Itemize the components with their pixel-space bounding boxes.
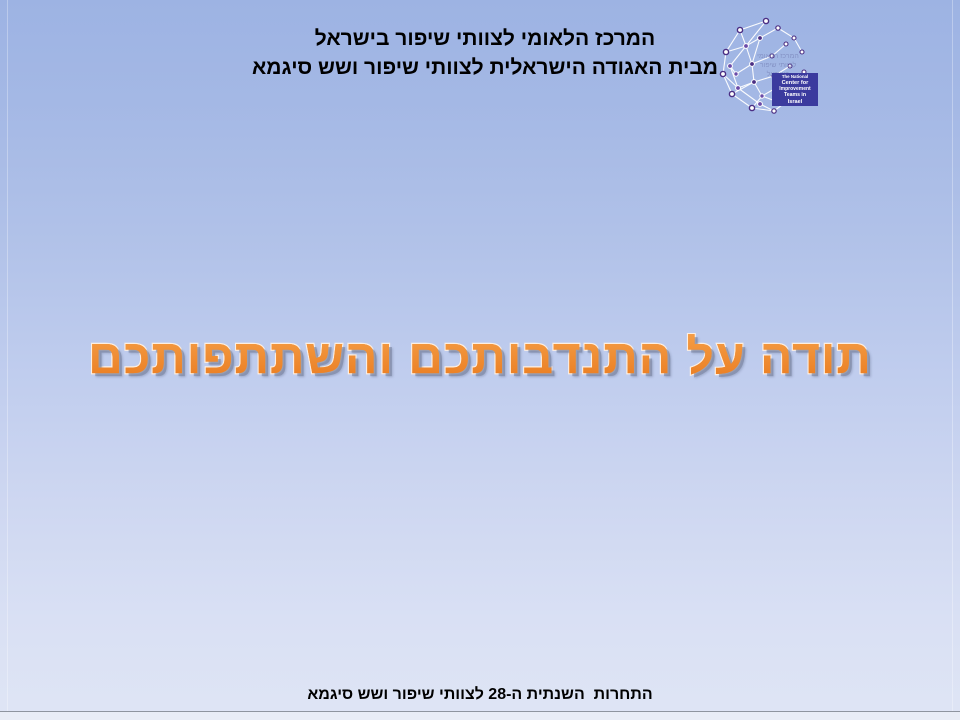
logo-badge: The National Center for Improvement Team… [772, 73, 818, 106]
header-line-2: מבית האגודה הישראלית לצוותי שיפור ושש סי… [246, 53, 724, 82]
svg-text:לצוותי שיפור: לצוותי שיפור [760, 61, 797, 69]
logo-badge-line-1: The National [782, 74, 808, 79]
slide-footer: התחרות השנתית ה-28 לצוותי שיפור ושש סיגמ… [0, 684, 960, 706]
national-center-logo: המרכז הלאומי לצוותי שיפור בישראל The Nat… [716, 16, 822, 114]
presentation-slide: המרכז הלאומי לצוותי שיפור בישראל מבית הא… [0, 0, 960, 720]
footer-strip [0, 712, 960, 720]
slide-title-outline-layer: תודה על התנדבותכם והשתתפותכם [0, 327, 960, 389]
slide-title-outline: תודה על התנדבותכם והשתתפותכם [88, 327, 872, 389]
footer-text: התחרות השנתית ה-28 לצוותי שיפור ושש סיגמ… [307, 684, 652, 706]
svg-text:המרכז הלאומי: המרכז הלאומי [757, 52, 799, 60]
logo-network-icon: המרכז הלאומי לצוותי שיפור בישראל The Nat… [716, 16, 822, 114]
logo-badge-line-5: Israel [788, 99, 803, 105]
slide-header: המרכז הלאומי לצוותי שיפור בישראל מבית הא… [246, 24, 724, 82]
header-line-1: המרכז הלאומי לצוותי שיפור בישראל [246, 24, 724, 53]
logo-badge-line-4: Teams in [784, 92, 806, 98]
